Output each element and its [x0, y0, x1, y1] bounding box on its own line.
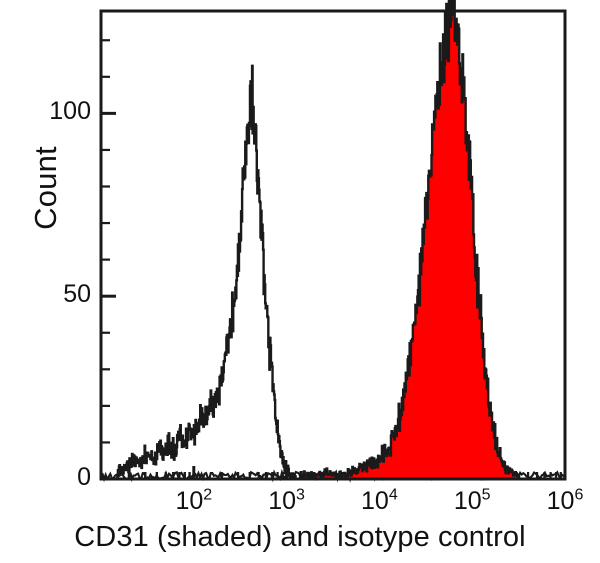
flow-cytometry-histogram-figure: Count CD31 (shaded) and isotype control … — [0, 0, 600, 563]
x-axis-title: CD31 (shaded) and isotype control — [0, 521, 600, 554]
x-tick-exponent: 6 — [574, 487, 583, 504]
x-tick-exponent: 5 — [482, 487, 491, 504]
x-tick-label: 104 — [339, 487, 419, 516]
x-tick-exponent: 2 — [203, 487, 212, 504]
x-tick-mantissa: 10 — [268, 487, 296, 515]
x-tick-label: 102 — [154, 487, 234, 516]
plot-frame — [101, 11, 565, 479]
x-tick-exponent: 3 — [296, 487, 305, 504]
x-tick-label: 105 — [432, 487, 512, 516]
x-tick-exponent: 4 — [389, 487, 398, 504]
x-tick-mantissa: 10 — [175, 487, 203, 515]
y-tick-label: 0 — [31, 463, 91, 492]
x-tick-mantissa: 10 — [361, 487, 389, 515]
y-tick-label: 100 — [31, 97, 91, 126]
x-tick-mantissa: 10 — [454, 487, 482, 515]
y-tick-label: 50 — [31, 280, 91, 309]
x-tick-label: 106 — [525, 487, 600, 516]
x-tick-label: 103 — [247, 487, 327, 516]
x-tick-mantissa: 10 — [547, 487, 575, 515]
y-axis-title: Count — [26, 118, 66, 258]
